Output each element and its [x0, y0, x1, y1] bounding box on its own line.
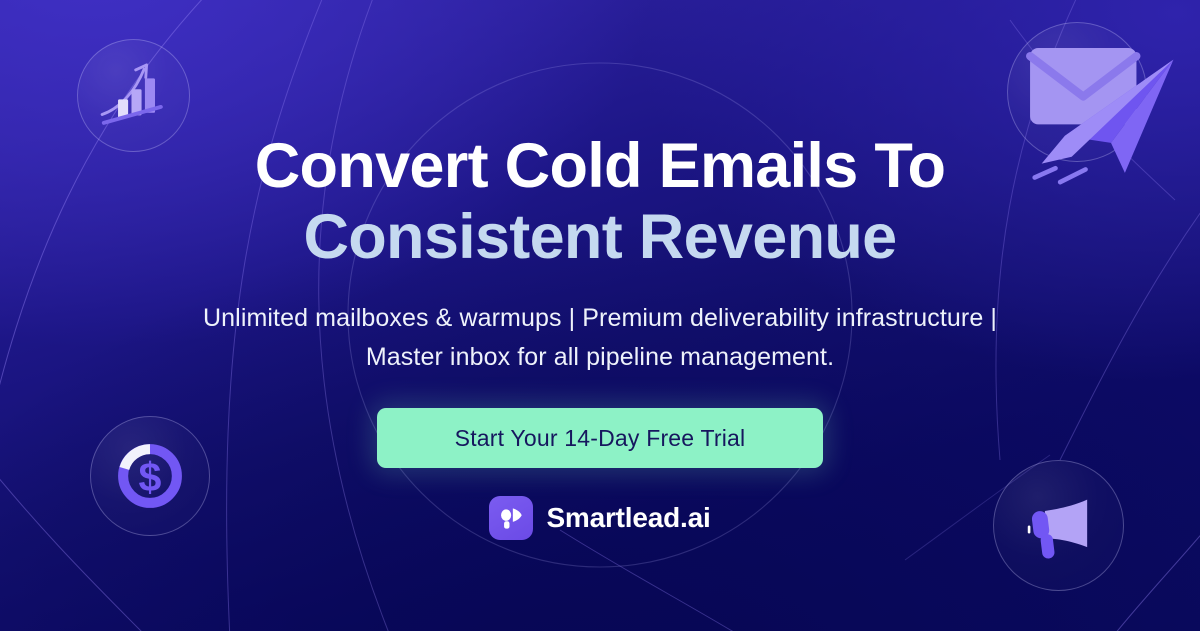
logo-mark-dot [501, 509, 511, 520]
megaphone-icon [489, 496, 533, 540]
hero-banner: $ Convert Cold Emails To Consistent Reve… [0, 0, 1200, 631]
logo-mark-handle [504, 521, 509, 528]
brand-lockup[interactable]: Smartlead.ai [489, 496, 710, 540]
logo-mark-cone [513, 508, 522, 522]
brand-name: Smartlead.ai [546, 502, 710, 534]
page-title: Convert Cold Emails To Consistent Revenu… [255, 131, 946, 272]
headline-line-1: Convert Cold Emails To [255, 131, 946, 202]
hero-content: Convert Cold Emails To Consistent Revenu… [0, 0, 1200, 631]
headline-line-2: Consistent Revenue [255, 202, 946, 273]
hero-subtitle: Unlimited mailboxes & warmups | Premium … [190, 299, 1010, 377]
cta-container: Start Your 14-Day Free Trial [377, 408, 823, 468]
start-free-trial-button[interactable]: Start Your 14-Day Free Trial [377, 408, 823, 468]
